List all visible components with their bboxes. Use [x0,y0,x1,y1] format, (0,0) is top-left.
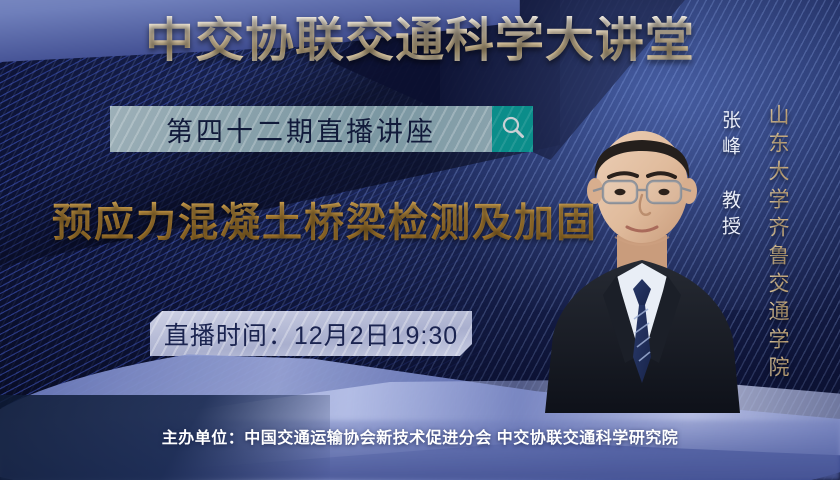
speaker-portrait [545,95,740,413]
search-icon-box[interactable] [492,106,533,152]
broadcast-time-badge: 直播时间：12月2日19:30 [150,311,472,356]
page-title: 中交协联交通科学大讲堂 [0,16,840,64]
search-icon [500,114,526,145]
series-banner: 第四十二期直播讲座 [110,106,492,152]
live-lecture-poster: 中交协联交通科学大讲堂 第四十二期直播讲座 预应力混凝土桥梁检测及加固 [0,0,840,480]
series-banner-label: 第四十二期直播讲座 [166,110,436,149]
lecture-topic: 预应力混凝土桥梁检测及加固 [52,190,598,248]
broadcast-time-label: 直播时间：12月2日19:30 [164,316,458,352]
organizer-footer: 主办单位：中国交通运输协会新技术促进分会 中交协联交通科学研究院 [0,424,840,448]
speaker-affiliation: 山东大学齐鲁交通学院 [762,104,792,384]
